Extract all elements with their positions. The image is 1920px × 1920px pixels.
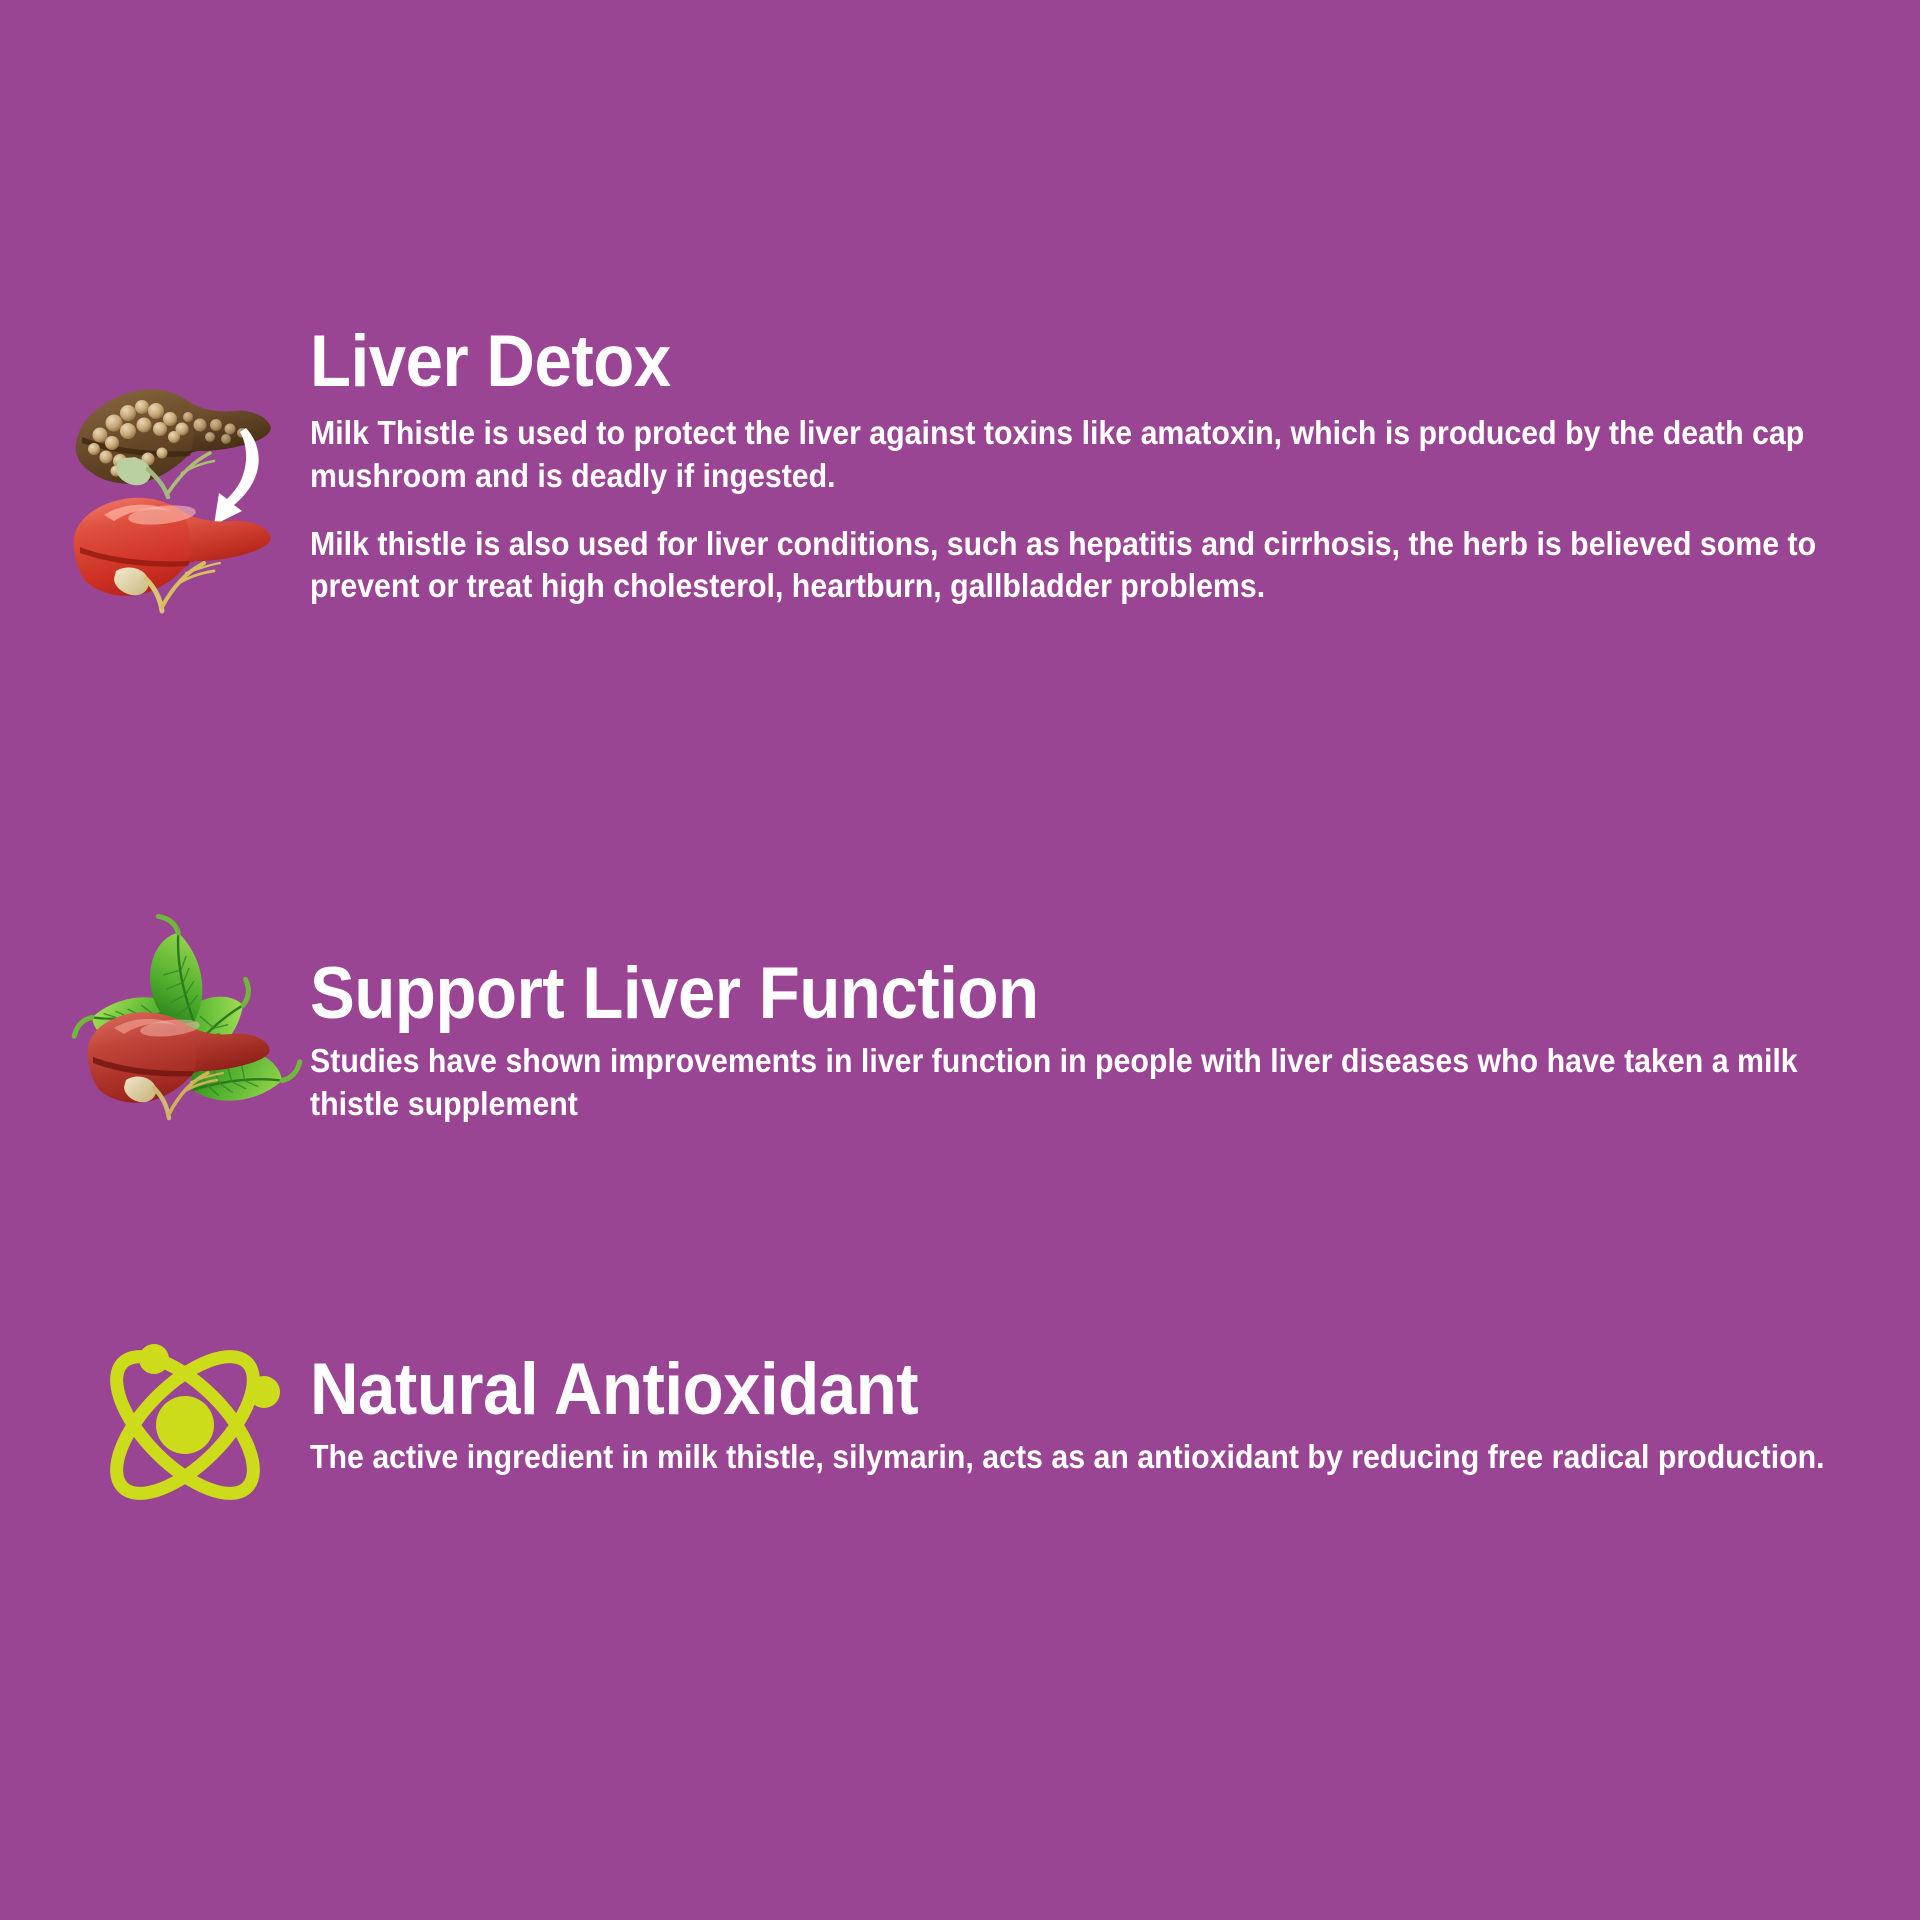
feature-title-liver-detox: Liver Detox [310,325,1736,399]
healthy-liver-illustration [74,498,271,611]
atom-icon [70,1325,300,1525]
feature-body-natural-antioxidant: Natural Antioxidant The active ingredien… [310,1315,1860,1480]
feature-paragraph: Milk Thistle is used to protect the live… [310,413,1860,497]
liver-illustration [88,1012,270,1118]
feature-paragraph: Studies have shown improvements in liver… [310,1041,1860,1125]
feature-block-liver-detox: Liver Detox Milk Thistle is used to prot… [70,325,1860,625]
feature-body-liver-detox: Liver Detox Milk Thistle is used to prot… [310,325,1860,608]
feature-body-support-liver-function: Support Liver Function Studies have show… [310,925,1860,1126]
diseased-liver-to-healthy-liver-arrow-icon [70,325,300,625]
feature-paragraph: Milk thistle is also used for liver cond… [310,524,1860,608]
feature-paragraph: The active ingredient in milk thistle, s… [310,1437,1860,1479]
feature-block-natural-antioxidant: Natural Antioxidant The active ingredien… [70,1315,1860,1525]
feature-title-support-liver-function: Support Liver Function [310,957,1736,1031]
liver-with-leaves-icon [70,950,300,1165]
feature-block-support-liver-function: Support Liver Function Studies have show… [70,925,1860,1165]
feature-title-natural-antioxidant: Natural Antioxidant [310,1353,1736,1427]
atom-nucleus [156,1396,214,1454]
infographic-canvas: Liver Detox Milk Thistle is used to prot… [0,0,1920,1920]
